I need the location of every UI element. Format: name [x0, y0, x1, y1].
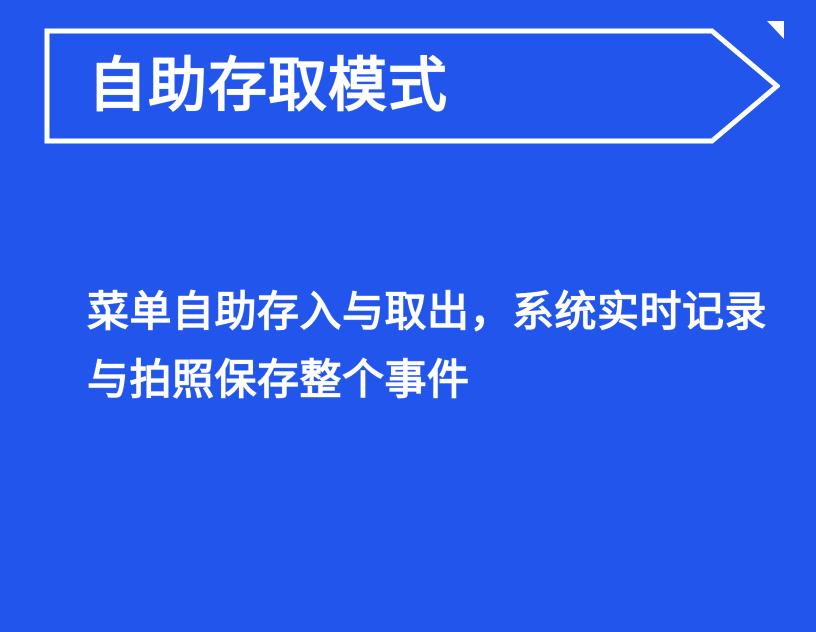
triangle-icon	[767, 21, 784, 39]
body-copy: 菜单自助存入与取出，系统实时记录 与拍照保存整个事件	[87, 278, 747, 414]
title-banner: 自助存取模式	[44, 28, 780, 144]
slide-canvas: 自助存取模式 菜单自助存入与取出，系统实时记录 与拍照保存整个事件	[0, 0, 816, 632]
corner-triangle-mark	[767, 21, 784, 39]
body-line-2: 与拍照保存整个事件	[87, 346, 747, 414]
body-line-1: 菜单自助存入与取出，系统实时记录	[87, 278, 747, 346]
page-title: 自助存取模式	[88, 57, 448, 116]
